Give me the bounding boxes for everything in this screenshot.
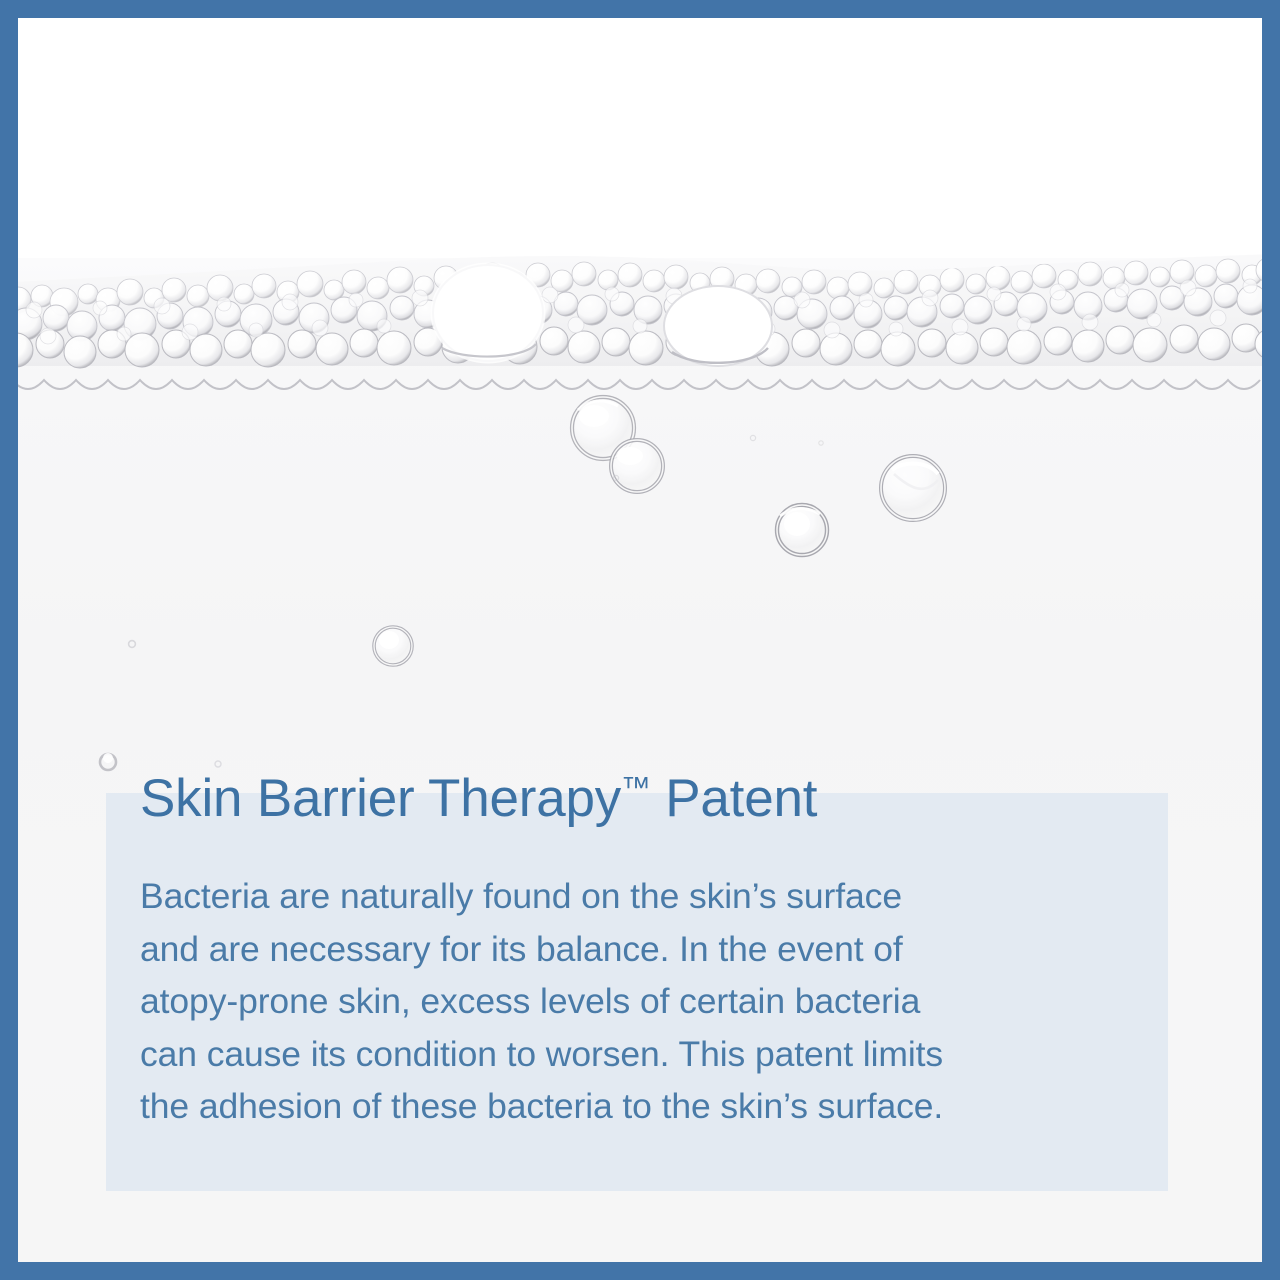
poster-frame: Skin Barrier Therapy™ Patent Bacteria ar… [0,0,1280,1280]
body-line: the adhesion of these bacteria to the sk… [140,1080,1100,1133]
body-paragraph: Bacteria are naturally found on the skin… [140,870,1100,1133]
page-title: Skin Barrier Therapy™ Patent [140,770,817,827]
title-text-suffix: Patent [651,769,818,828]
title-text-main: Skin Barrier Therapy [140,769,621,828]
poster-canvas: Skin Barrier Therapy™ Patent Bacteria ar… [18,18,1262,1262]
body-line: atopy-prone skin, excess levels of certa… [140,975,1100,1028]
body-line: can cause its condition to worsen. This … [140,1028,1100,1081]
trademark-symbol: ™ [621,772,651,805]
air-background [18,18,1262,268]
body-line: Bacteria are naturally found on the skin… [140,870,1100,923]
foam-band [18,248,1262,398]
body-line: and are necessary for its balance. In th… [140,923,1100,976]
